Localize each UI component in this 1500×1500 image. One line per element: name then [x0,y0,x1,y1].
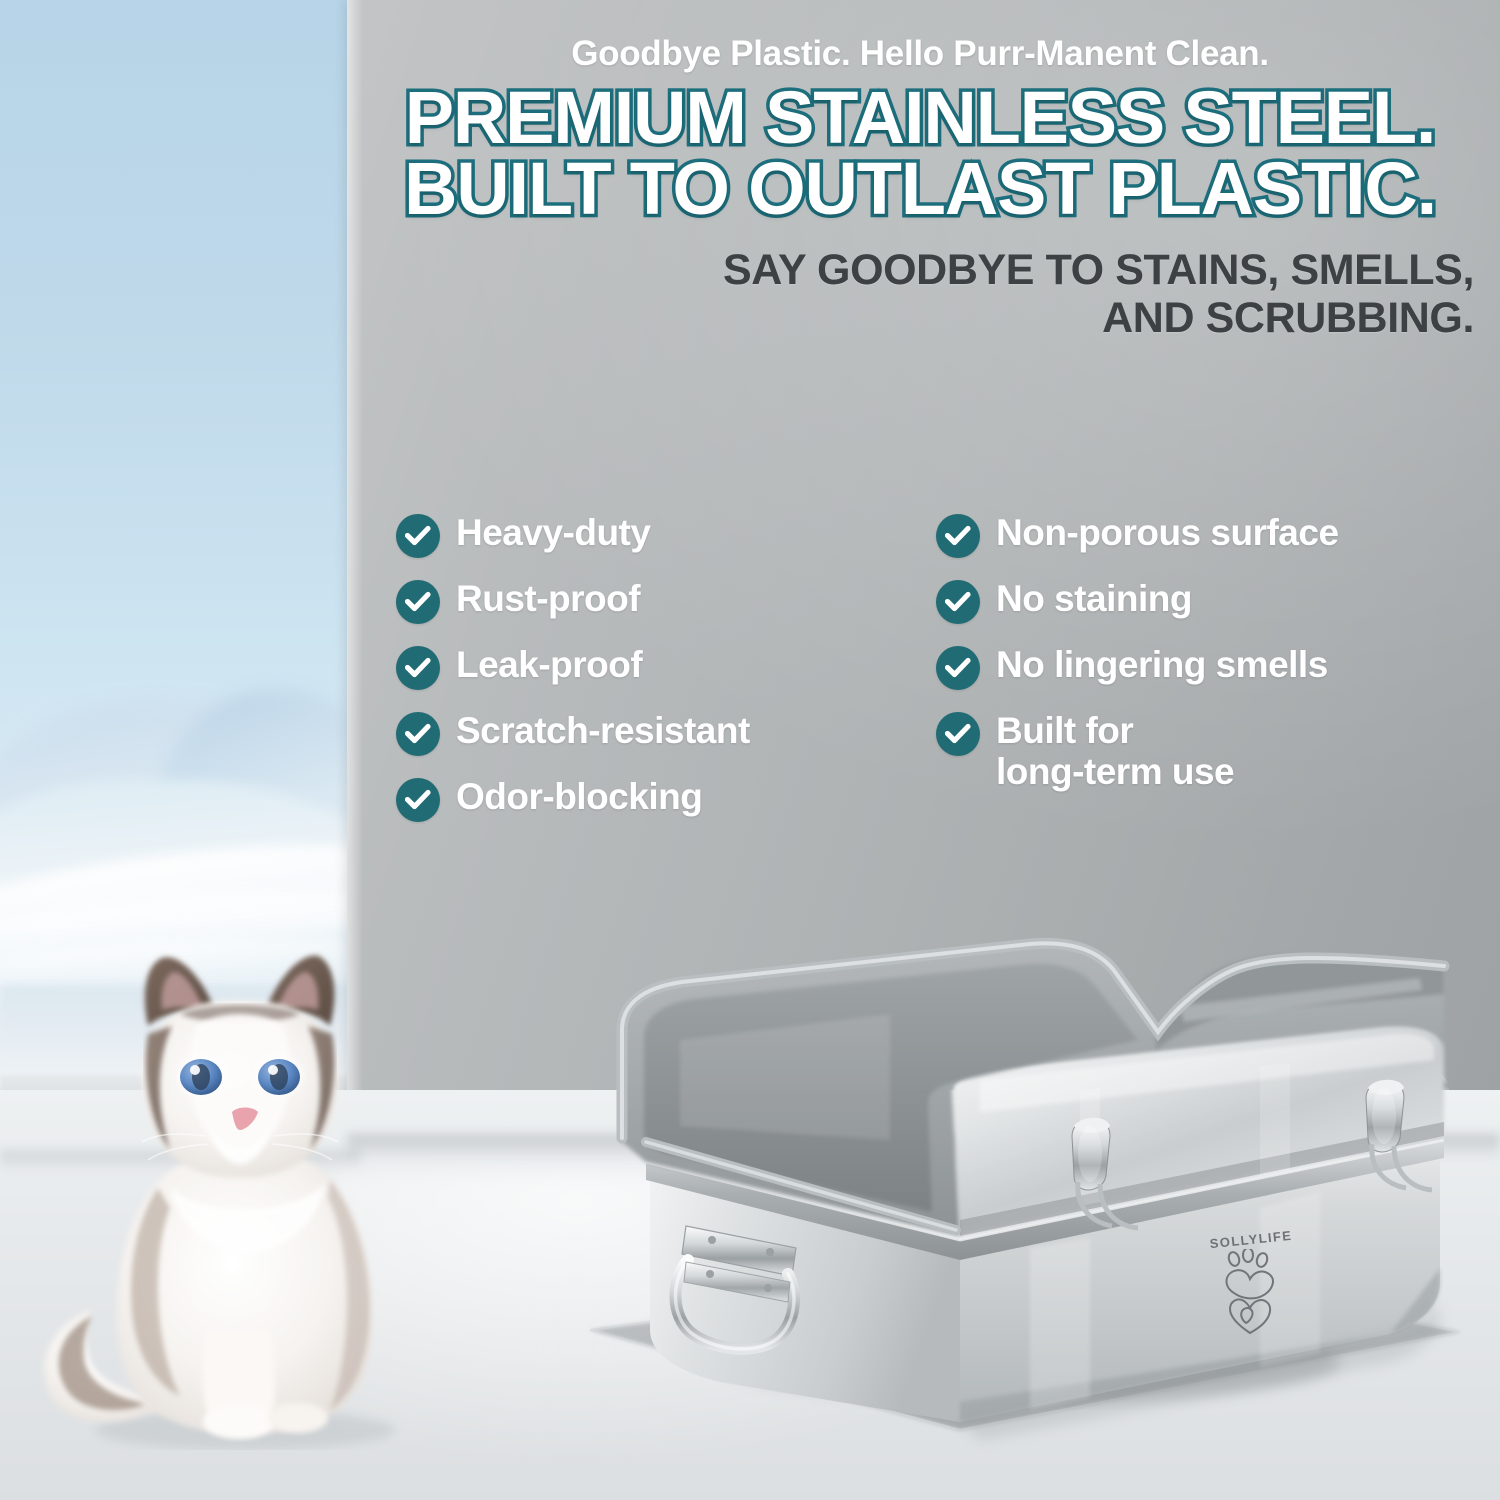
feature-label: Heavy-duty [456,512,650,553]
headline-line-2: BUILT TO OUTLAST PLASTIC. [360,153,1480,224]
feature-label: Odor-blocking [456,776,702,817]
headline-line-1: PREMIUM STAINLESS STEEL. [360,82,1480,153]
headline-block: Goodbye Plastic. Hello Purr-Manent Clean… [360,34,1480,342]
feature-label: Rust-proof [456,578,640,619]
cat-eye-right [254,1055,304,1097]
feature-item: Odor-blocking [396,776,866,822]
check-circle-icon [396,514,440,558]
check-circle-icon [396,580,440,624]
sub-headline: SAY GOODBYE TO STAINS, SMELLS, AND SCRUB… [360,246,1480,342]
check-circle-icon [396,712,440,756]
check-circle-icon [936,514,980,558]
feature-label: Non-porous surface [996,512,1339,553]
feature-label: Built for long-term use [996,710,1234,793]
subhead-line-2: AND SCRUBBING. [360,294,1474,342]
ragdoll-cat-photo [30,930,450,1450]
check-circle-icon [936,580,980,624]
feature-item: Leak-proof [396,644,866,690]
check-circle-icon [396,778,440,822]
feature-label: Leak-proof [456,644,642,685]
check-circle-icon [396,646,440,690]
feature-item: No lingering smells [936,644,1436,690]
check-circle-icon [936,646,980,690]
cat-paw [268,1403,328,1433]
feature-label: Scratch-resistant [456,710,750,751]
feature-label: No lingering smells [996,644,1328,685]
feature-column-left: Heavy-duty Rust-proof Leak-proof Scratch… [396,512,866,842]
cat-eye-left [176,1055,226,1097]
feature-item: Non-porous surface [936,512,1436,558]
main-headline: PREMIUM STAINLESS STEEL. BUILT TO OUTLAS… [360,82,1480,224]
check-circle-icon [936,712,980,756]
feature-item: No staining [936,578,1436,624]
subhead-line-1: SAY GOODBYE TO STAINS, SMELLS, [360,246,1474,294]
feature-list: Heavy-duty Rust-proof Leak-proof Scratch… [396,512,1456,842]
feature-column-right: Non-porous surface No staining No linger… [936,512,1436,842]
feature-item: Built for long-term use [936,710,1436,793]
feature-label: No staining [996,578,1192,619]
feature-item: Scratch-resistant [396,710,866,756]
product-advertisement: Goodbye Plastic. Hello Purr-Manent Clean… [0,0,1500,1500]
cat-head [142,956,339,1178]
cat-paw [203,1405,275,1439]
feature-item: Heavy-duty [396,512,866,558]
feature-item: Rust-proof [396,578,866,624]
stainless-litter-box [560,930,1500,1460]
eyebrow-text: Goodbye Plastic. Hello Purr-Manent Clean… [360,34,1480,74]
